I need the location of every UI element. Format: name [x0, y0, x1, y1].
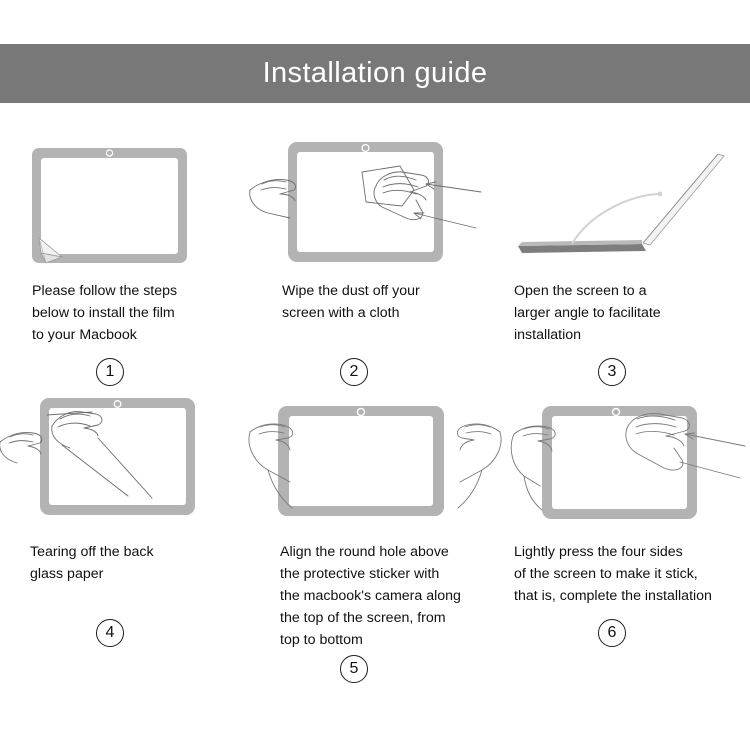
step-number-badge: 3 — [598, 358, 626, 386]
step-badge-row-2: 2 — [250, 354, 500, 386]
step-illustration-2 — [250, 130, 500, 270]
step-badge-row-4: 4 — [0, 615, 250, 647]
step-text-line: larger angle to facilitate — [514, 302, 744, 324]
step-text-line: Open the screen to a — [514, 280, 744, 302]
step-cell-5: Align the round hole above the protectiv… — [250, 386, 500, 683]
step-text-line: Please follow the steps — [32, 280, 232, 302]
step-text-line: Wipe the dust off your — [282, 280, 482, 302]
step-cell-1: Please follow the steps below to install… — [0, 130, 250, 386]
step-number-badge: 1 — [96, 358, 124, 386]
step-badge-row-6: 6 — [500, 615, 750, 647]
step-text-line: to your Macbook — [32, 324, 232, 346]
step-text-line: Align the round hole above — [280, 541, 482, 563]
step-description-4: Tearing off the back glass paper — [0, 531, 250, 615]
step-text-line: that is, complete the installation — [514, 585, 744, 607]
step-text-line: screen with a cloth — [282, 302, 482, 324]
step-text-line: the macbook's camera along — [280, 585, 482, 607]
step-description-5: Align the round hole above the protectiv… — [250, 531, 500, 651]
step-number-badge: 6 — [598, 619, 626, 647]
page-title: Installation guide — [263, 59, 488, 88]
step-text-line: Tearing off the back — [30, 541, 232, 563]
step-text-line: the top of the screen, from — [280, 607, 482, 629]
step-text-line: top to bottom — [280, 629, 482, 651]
steps-grid: Please follow the steps below to install… — [0, 130, 750, 683]
step-cell-6: Lightly press the four sides of the scre… — [500, 386, 750, 683]
step-badge-row-5: 5 — [250, 651, 500, 683]
step-illustration-1 — [0, 130, 250, 270]
header-band: Installation guide — [0, 44, 750, 103]
step-text-line: of the screen to make it stick, — [514, 563, 744, 585]
step-text-line: below to install the film — [32, 302, 232, 324]
step-description-6: Lightly press the four sides of the scre… — [500, 531, 750, 615]
step-cell-3: Open the screen to a larger angle to fac… — [500, 130, 750, 386]
step-illustration-3 — [500, 130, 750, 270]
step-cell-2: Wipe the dust off your screen with a clo… — [250, 130, 500, 386]
step-text-line: installation — [514, 324, 744, 346]
step-description-2: Wipe the dust off your screen with a clo… — [250, 270, 500, 354]
step-badge-row-3: 3 — [500, 354, 750, 386]
step-illustration-6 — [500, 386, 750, 531]
step-text-line: glass paper — [30, 563, 232, 585]
step-text-line: Lightly press the four sides — [514, 541, 744, 563]
step-description-1: Please follow the steps below to install… — [0, 270, 250, 354]
step-illustration-4 — [0, 386, 250, 531]
step-illustration-5 — [250, 386, 500, 531]
step-number-badge: 2 — [340, 358, 368, 386]
step-number-badge: 4 — [96, 619, 124, 647]
step-description-3: Open the screen to a larger angle to fac… — [500, 270, 750, 354]
step-number-badge: 5 — [340, 655, 368, 683]
step-badge-row-1: 1 — [0, 354, 250, 386]
step-cell-4: Tearing off the back glass paper 4 — [0, 386, 250, 683]
step-text-line: the protective sticker with — [280, 563, 482, 585]
